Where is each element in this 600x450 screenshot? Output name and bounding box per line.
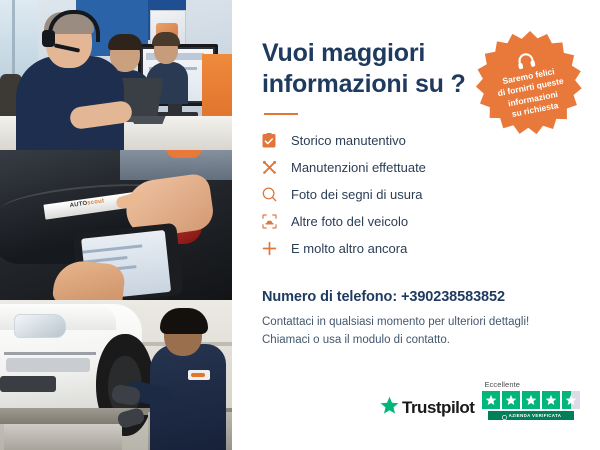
car-scan-icon (262, 214, 284, 229)
contact-block: Numero di telefono: +390238583852 Contat… (262, 289, 578, 349)
phone-line: Numero di telefono: +390238583852 (262, 289, 578, 305)
orange-accent (166, 150, 202, 158)
trustpilot-logo: Trustpilot (380, 396, 474, 420)
feature-item-foto-segni-usura: Foto dei segni di usura (262, 181, 578, 208)
page-title: Vuoi maggiori informazioni su ? (262, 38, 472, 99)
phone-label: Numero di telefono: (262, 289, 401, 305)
feature-label: Manutenzioni effettuate (284, 160, 426, 175)
title-underline-rule (264, 113, 298, 115)
mechanic-hair (160, 308, 208, 334)
mechanic-uniform-badge (188, 370, 210, 380)
ruler-brand-main: AUTO (69, 201, 87, 209)
feature-item-manutenzioni-effettuate: Manutenzioni effettuate (262, 154, 578, 181)
feature-label: E molto altro ancora (284, 241, 407, 256)
page-title-line2: informazioni su ? (262, 69, 472, 100)
trustpilot-rating: Eccellente AZIENDA VERIFICATA (482, 380, 580, 420)
car-grille (6, 358, 90, 372)
verified-business-label: AZIENDA VERIFICATA (509, 413, 562, 418)
feature-label: Storico manutentivo (284, 133, 406, 148)
page-title-line1: Vuoi maggiori (262, 39, 425, 67)
plus-icon (262, 241, 284, 256)
clipboard-check-icon (262, 133, 284, 148)
feature-item-altre-foto-veicolo: Altre foto del veicolo (262, 208, 578, 235)
content-panel: Vuoi maggiori informazioni su ? Saremo f… (232, 0, 600, 450)
rating-star (542, 391, 560, 409)
feature-item-molto-altro: E molto altro ancora (262, 235, 578, 262)
trustpilot-caption: Eccellente (482, 380, 520, 389)
phone-number[interactable]: +390238583852 (401, 289, 505, 305)
car-chrome-trim (4, 352, 96, 355)
vehicle-lift-base (4, 424, 122, 450)
contact-subtext-line2: Chiamaci o usa il modulo di contatto. (262, 331, 578, 349)
tools-cross-icon (262, 160, 284, 175)
trustpilot-widget[interactable]: Trustpilot Eccellente A (380, 380, 580, 420)
verified-check-icon (502, 407, 507, 425)
trustpilot-wordmark: Trustpilot (402, 398, 474, 418)
feature-list: Storico manutentivo Manutenzioni effettu… (262, 127, 578, 262)
agent-headset-earcup (42, 30, 55, 47)
rating-star (522, 391, 540, 409)
car-lower-grille (0, 376, 56, 392)
contact-subtext: Contattaci in qualsiasi momento per ulte… (262, 313, 578, 349)
call-centre-agents-photo (0, 0, 232, 150)
car-headlight (14, 314, 66, 338)
feature-label: Foto dei segni di usura (284, 187, 423, 202)
contact-subtext-line1: Contattaci in qualsiasi momento per ulte… (262, 313, 578, 331)
verified-business-badge: AZIENDA VERIFICATA (488, 411, 574, 420)
mechanic-wheel-inspection-photo (0, 300, 232, 450)
rating-star (482, 391, 500, 409)
ruler-brand-label: AUTOscout (69, 198, 104, 209)
callout-badge: Saremo felici di fornirti queste informa… (474, 28, 586, 140)
ruler-brand-sub: scout (87, 198, 105, 206)
background-agent-hair (152, 32, 180, 46)
feature-label: Altre foto del veicolo (284, 214, 408, 229)
rating-star-half (562, 391, 580, 409)
magnifier-icon (262, 187, 284, 202)
vehicle-inspection-closeup-photo: AUTOscout (0, 150, 232, 300)
trustpilot-star-icon (380, 396, 399, 420)
second-agent-hair (108, 34, 142, 50)
photo-column: AUTOscout (0, 0, 232, 450)
promo-banner: AUTOscout (0, 0, 600, 450)
trustpilot-stars (482, 391, 580, 409)
